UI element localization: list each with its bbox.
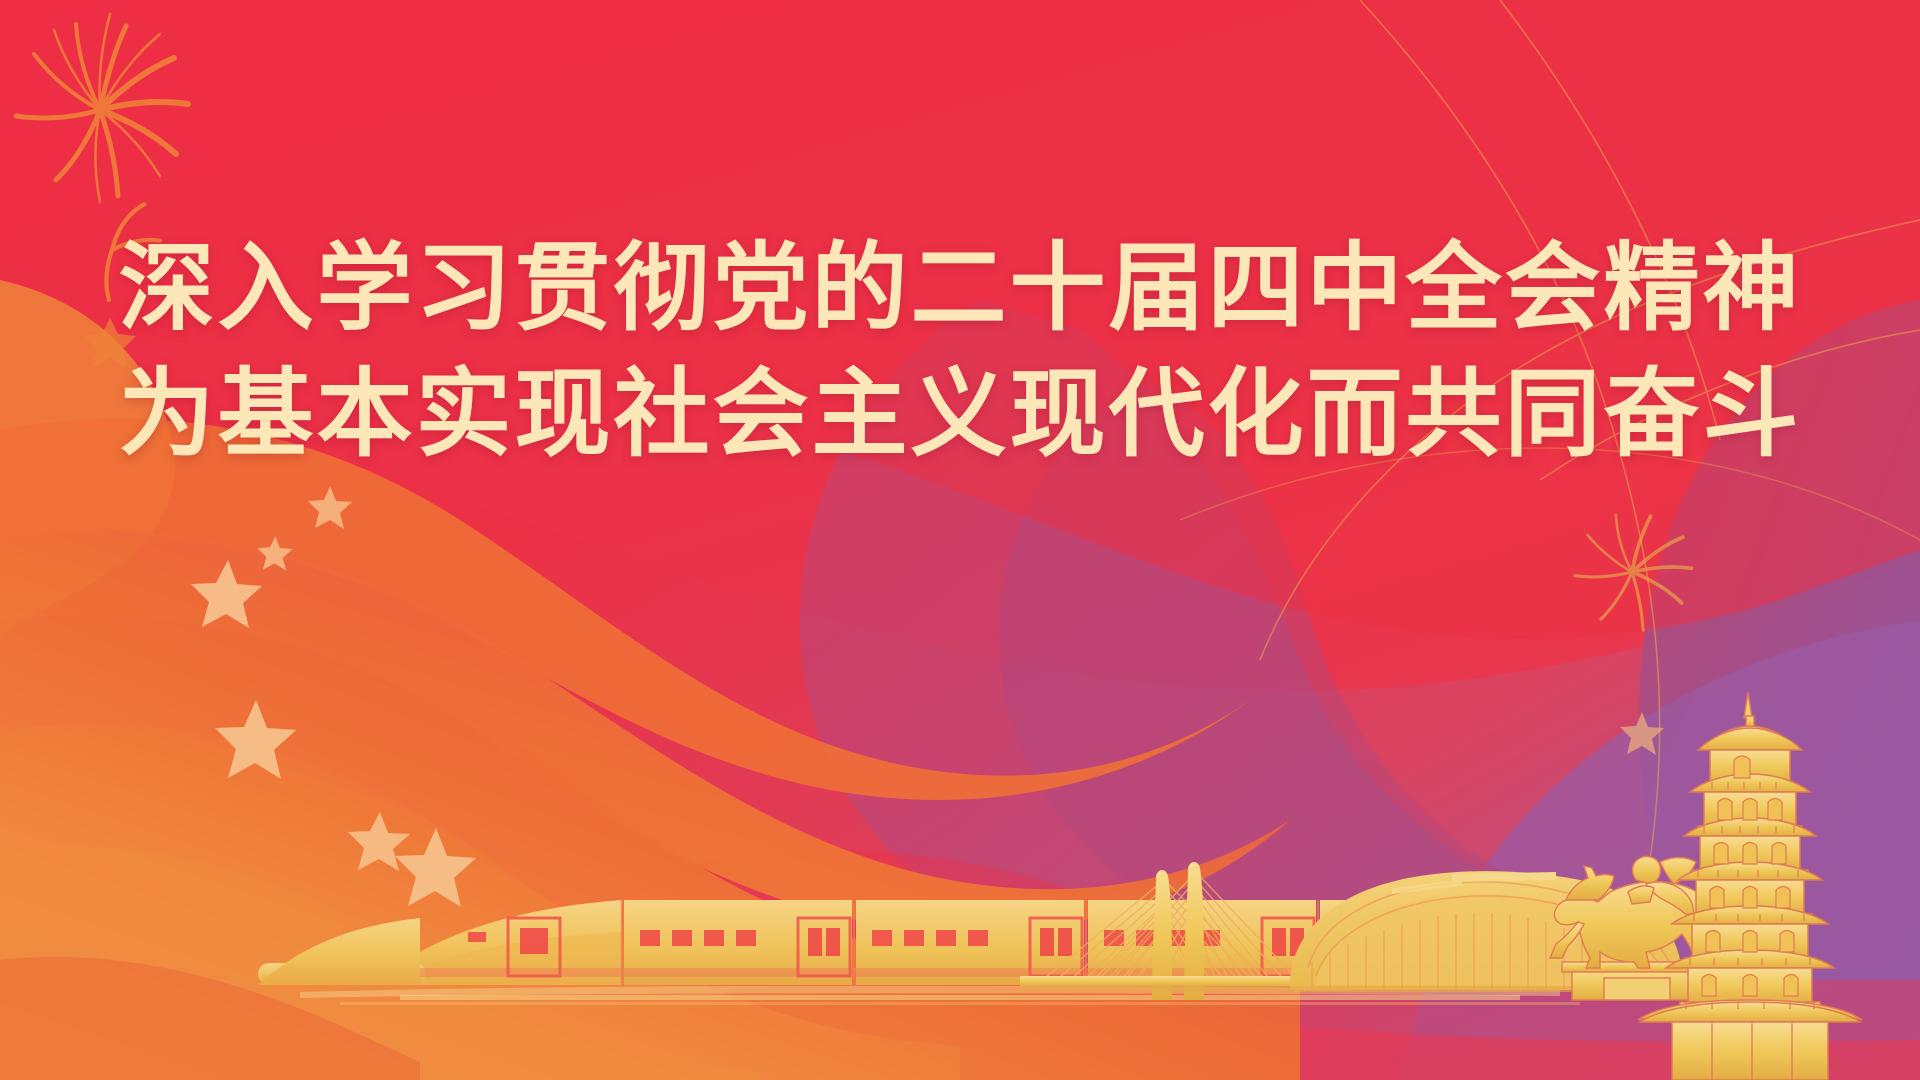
pagoda-icon [1638,692,1862,1080]
skyline-pagoda [0,0,1920,1080]
poster-banner: 深入学习贯彻党的二十届四中全会精神 为基本实现社会主义现代化而共同奋斗 [0,0,1920,1080]
